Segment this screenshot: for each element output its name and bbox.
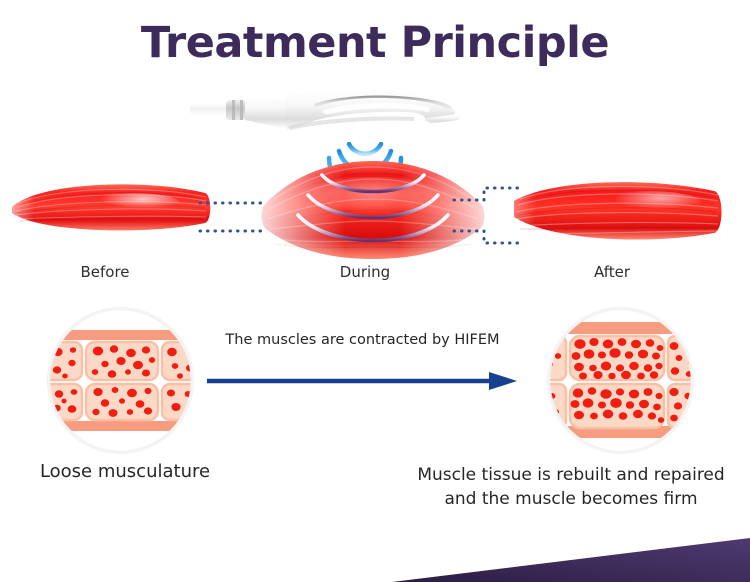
stage-label-row: Before During After xyxy=(0,263,750,287)
muscle-tissue-cross-section-dense-icon xyxy=(548,308,693,453)
tissue-circle-loose xyxy=(48,308,193,453)
process-caption: The muscles are contracted by HIFEM xyxy=(190,332,535,348)
muscle-before xyxy=(0,155,215,265)
muscle-after xyxy=(500,155,740,265)
infographic-canvas: Treatment Principle xyxy=(0,0,750,582)
handpiece-illustration xyxy=(190,88,470,148)
muscle-stage-row xyxy=(0,155,750,265)
muscle-fiber-relaxed-icon xyxy=(0,155,215,265)
connector-during-to-after xyxy=(452,155,522,265)
tissue-circle-firm xyxy=(548,308,693,453)
connector-before-to-during xyxy=(198,155,268,265)
muscle-tissue-cross-section-loose-icon xyxy=(48,308,193,453)
muscle-fiber-toned-icon xyxy=(500,155,740,265)
hifem-handpiece-applicator-icon xyxy=(190,88,470,148)
process-arrow xyxy=(205,368,520,394)
right-arrow-icon xyxy=(205,368,520,394)
stage-label-after: After xyxy=(552,263,672,281)
stage-label-before: Before xyxy=(45,263,165,281)
stage-label-during: During xyxy=(305,263,425,281)
caption-loose-musculature: Loose musculature xyxy=(10,461,240,482)
caption-firm-line1: Muscle tissue is rebuilt and repaired xyxy=(400,463,742,487)
caption-firm-line2: and the muscle becomes firm xyxy=(400,487,742,511)
page-title: Treatment Principle xyxy=(0,18,750,68)
dotted-connector-line-icon xyxy=(452,155,522,265)
caption-firm-muscle: Muscle tissue is rebuilt and repaired an… xyxy=(400,463,742,511)
dotted-connector-line-icon xyxy=(198,155,268,265)
